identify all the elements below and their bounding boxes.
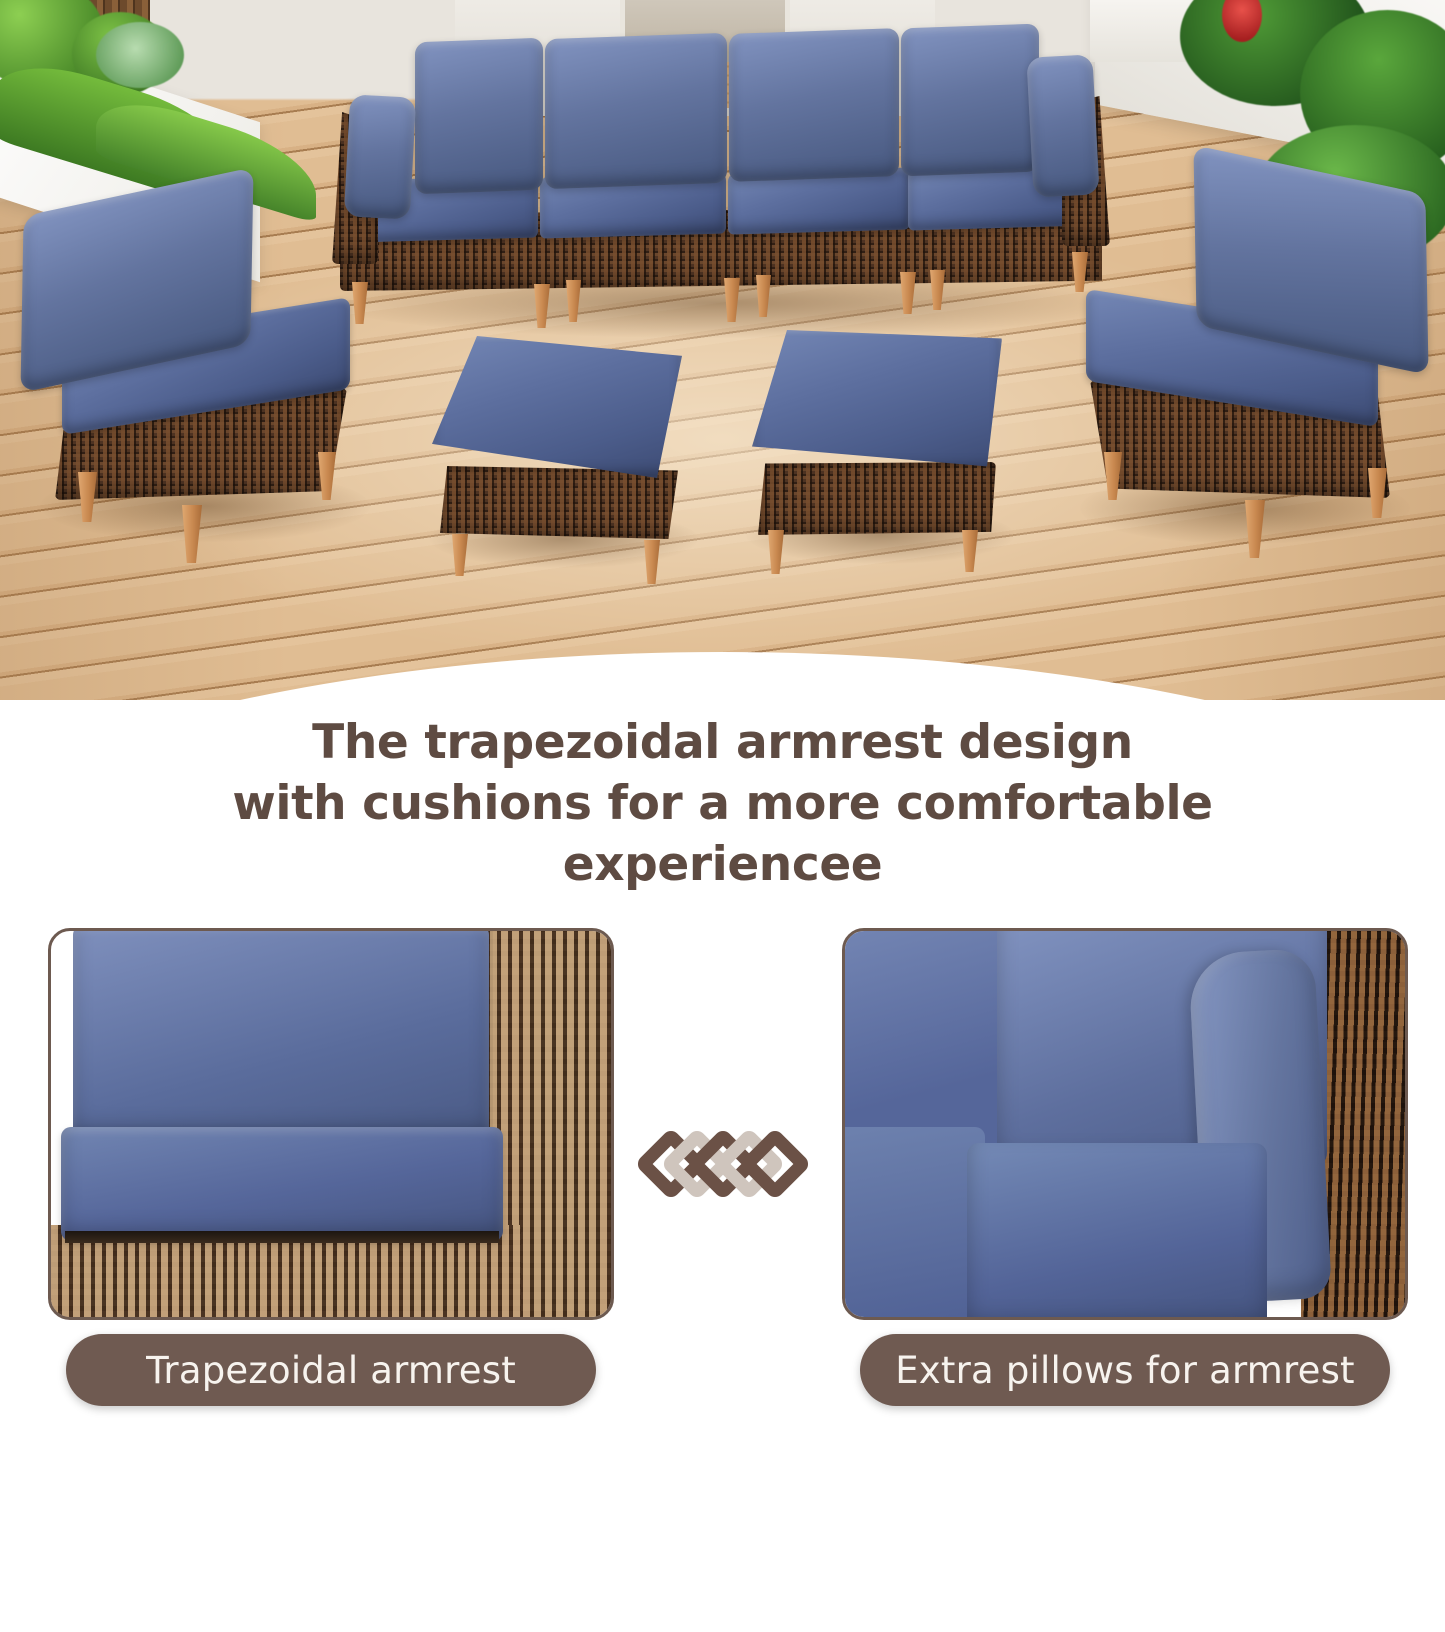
sofa-back-cushion-2 [545,33,727,189]
ottoman-right-leg-2 [962,530,978,572]
back-cushion-far-right-panel [845,931,1015,1153]
seat-gap-left-panel [65,1231,499,1243]
succulent-left [96,22,184,88]
ottoman-left-base [440,466,678,542]
sofa-back-cushion-1 [415,38,543,194]
caption-left: Trapezoidal armrest [66,1334,596,1406]
page-title: The trapezoidal armrest design with cush… [0,712,1445,895]
detail-panel-left [48,928,614,1320]
product-feature-page: The trapezoidal armrest design with cush… [0,0,1445,1410]
sofa-armrest-pillow-left [344,94,416,219]
sofa-leg-8 [1072,252,1088,292]
seat-cushion-far-right-panel [845,1127,985,1317]
back-cushion-left-panel [73,931,489,1137]
seat-cushion-right-panel [967,1143,1267,1317]
ottoman-left-leg-2 [644,540,660,584]
caption-right: Extra pillows for armrest [860,1334,1390,1406]
ottoman-right-cushion [752,330,1002,472]
hero-photo [0,0,1445,700]
ottoman-right-base [758,462,996,538]
ottoman-right-leg-1 [768,530,784,574]
sofa-armrest-pillow-right [1026,54,1099,197]
ottoman-left-leg-1 [452,534,468,576]
headline-line-3: experiencee [0,834,1445,895]
headline-line-1: The trapezoidal armrest design [0,712,1445,773]
chevron-divider [645,1128,805,1200]
detail-panel-right [842,928,1408,1320]
headline-line-2: with cushions for a more comfortable [0,773,1445,834]
sofa-back-cushion-3 [729,28,899,182]
trapezoidal-armrest-photo [51,931,611,1317]
ottoman-left-cushion [432,336,682,478]
seat-cushion-left-panel [61,1127,503,1241]
chair-right-leg-2 [1245,500,1265,558]
sofa-back-cushion-4 [901,24,1039,177]
chair-left-leg-2 [182,505,202,563]
extra-pillow-armrest-photo [845,931,1405,1317]
